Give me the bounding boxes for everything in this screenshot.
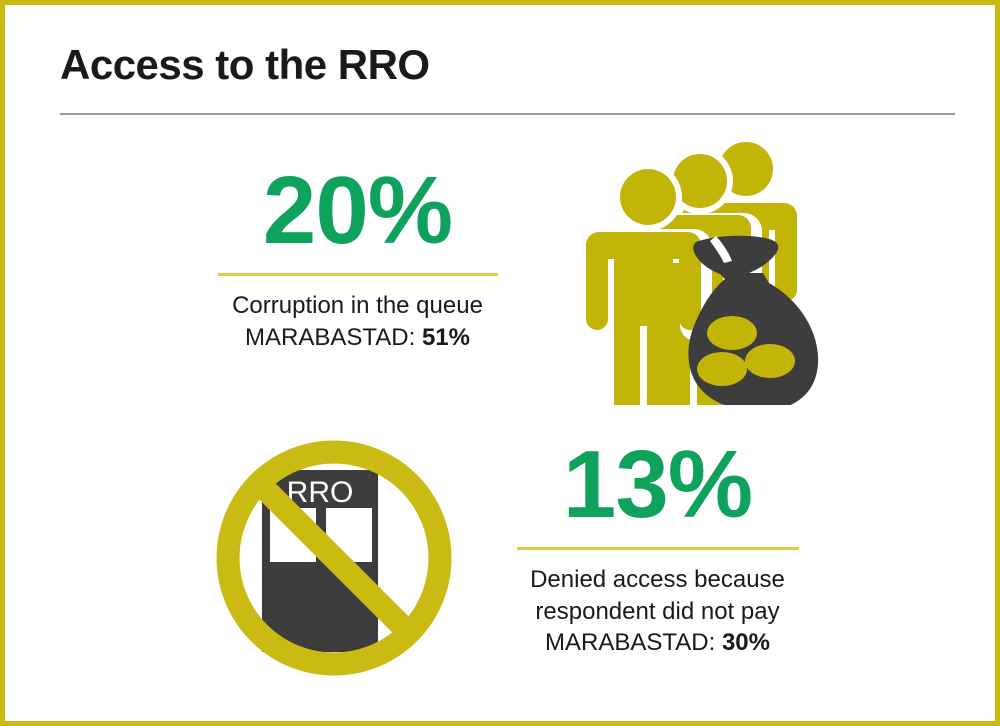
stat-sub-prefix-corruption: MARABASTAD: (245, 324, 422, 351)
header-divider (60, 113, 955, 115)
money-bag-icon (688, 236, 818, 405)
stat-divider (517, 547, 799, 550)
stat-sub-value-denied: 30% (722, 629, 770, 656)
stat-sub-denied: MARABASTAD: 30% (485, 627, 830, 659)
page-title: Access to the RRO (60, 43, 955, 87)
header: Access to the RRO (60, 43, 955, 115)
stat-sub-value-corruption: 51% (422, 324, 470, 351)
stat-block-corruption-in-queue: 20% Corruption in the queue MARABASTAD: … (185, 163, 530, 353)
people-queue-money-bag-icon (580, 137, 830, 405)
stat-sub-prefix-denied: MARABASTAD: (545, 629, 722, 656)
no-access-rro-building-icon: RRO (200, 430, 468, 686)
stat-divider (218, 273, 498, 276)
stat-value-corruption: 20% (185, 163, 530, 259)
stat-label-corruption: Corruption in the queue (185, 290, 530, 322)
stat-label-denied-line2: respondent did not pay (485, 596, 830, 628)
stat-block-denied-access: 13% Denied access because respondent did… (485, 437, 830, 659)
stat-sub-corruption: MARABASTAD: 51% (185, 322, 530, 354)
infographic-page: Access to the RRO 20% Corruption in the … (0, 0, 1000, 726)
stat-value-denied: 13% (485, 437, 830, 533)
building-label-text: RRO (287, 476, 354, 509)
stat-label-denied-line1: Denied access because (485, 564, 830, 596)
